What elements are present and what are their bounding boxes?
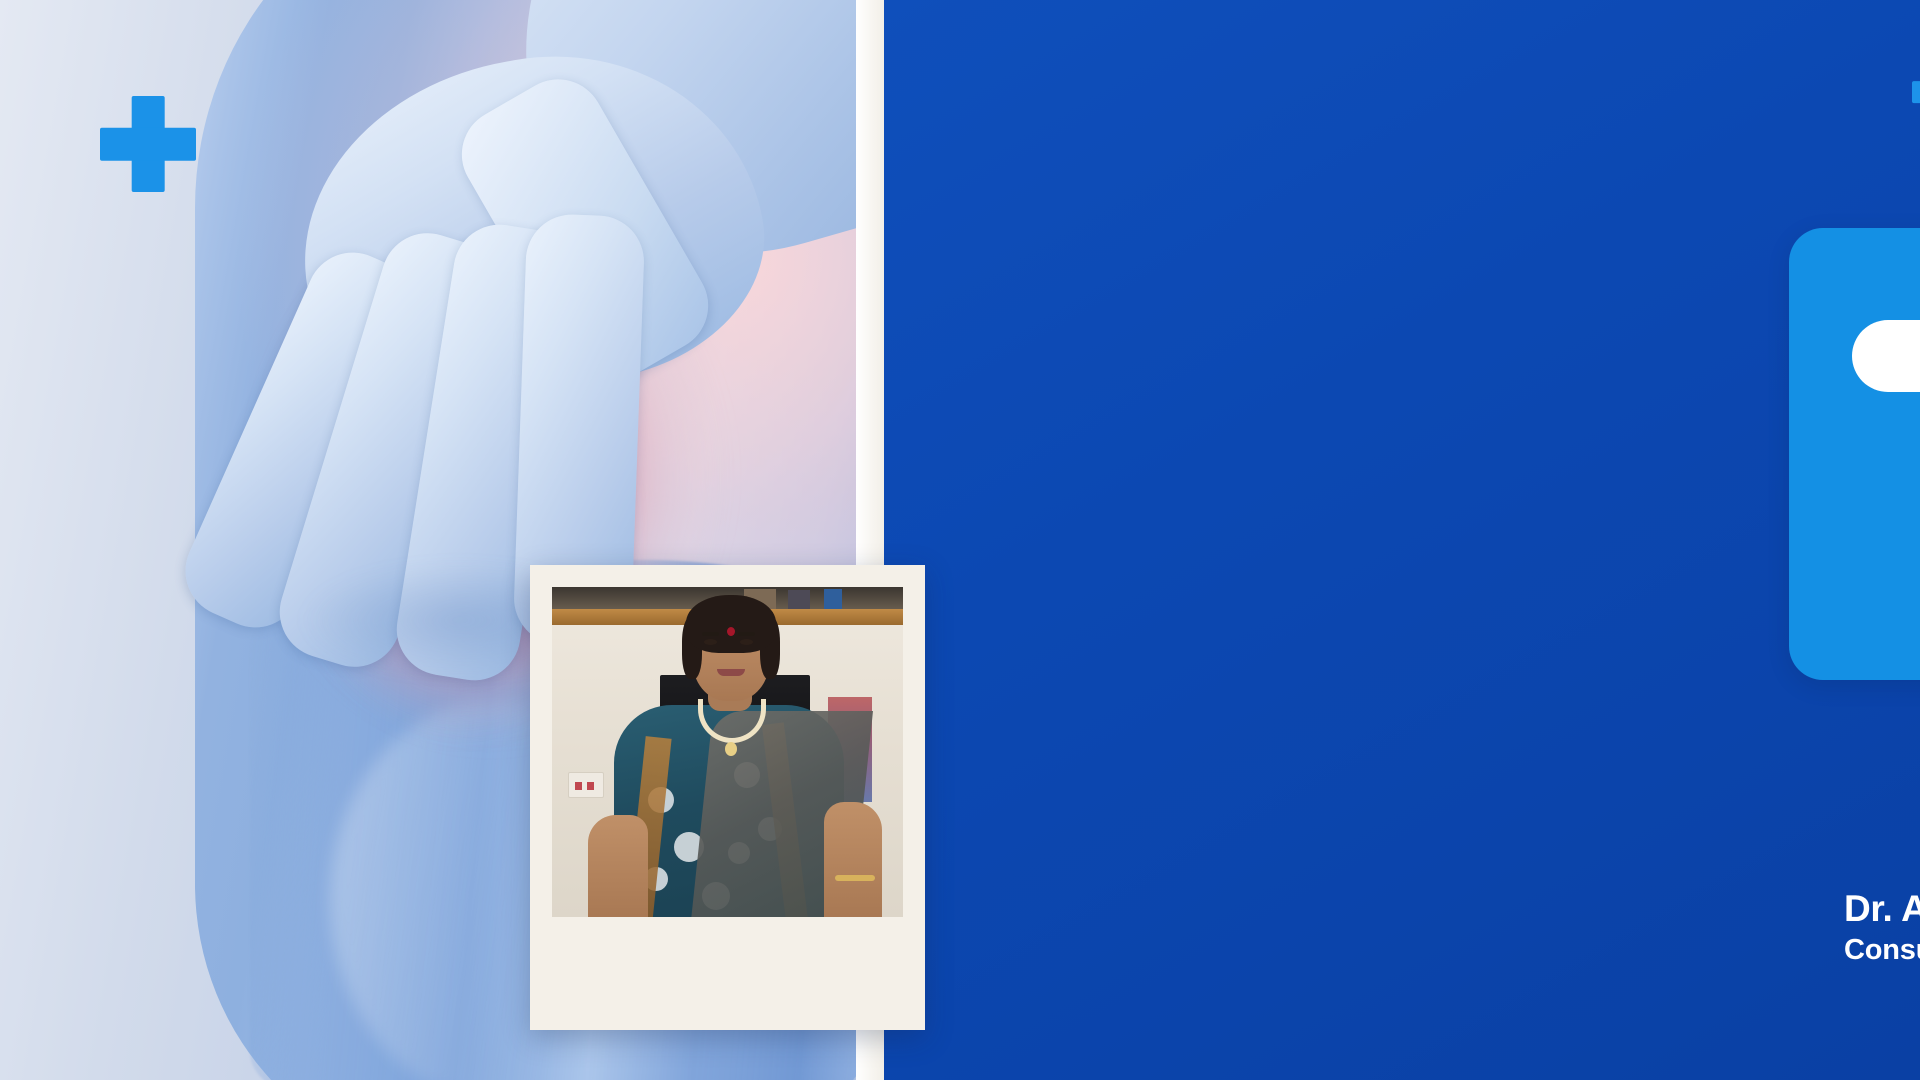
photo-brow-left [702, 632, 719, 636]
photo-arm-left [588, 815, 648, 917]
plus-icon-top-right [1912, 60, 1920, 124]
photo-wall-socket [568, 772, 604, 798]
photo-pendant [725, 742, 737, 756]
headline-highlight: affect [1789, 406, 1920, 478]
headline-line-4: bone health? [1789, 486, 1920, 582]
photo-bindi [727, 627, 735, 636]
photo-shelf-frame-2 [788, 590, 810, 611]
headline-card: How type 1 and type 2 diabetes affect bo… [1789, 228, 1920, 680]
credit-block: Dr. A. Sharda Consultant-Endocrinologist… [1844, 888, 1920, 968]
doctor-role: Consultant-Endocrinologist and Diabetolo… [1844, 933, 1920, 968]
photo-arm-right [824, 802, 882, 917]
content-panel: E TIMES ENTERTAINMENT TIMES LIFESTYLE Ho… [884, 0, 1920, 1080]
headline-pill: type 1 and type 2 diabetes [1852, 320, 1920, 392]
headline-line-1: How [1789, 244, 1920, 307]
photo-bangle [835, 875, 875, 881]
photo-shelf-vase [824, 589, 842, 611]
doctor-name: Dr. A. Sharda [1844, 888, 1920, 929]
poster-canvas: E TIMES ENTERTAINMENT TIMES LIFESTYLE Ho… [0, 0, 1920, 1080]
photo-brow-right [738, 632, 755, 636]
photo-eye-left [704, 639, 717, 645]
photo-mouth [717, 669, 745, 676]
plus-icon-left [100, 96, 196, 192]
doctor-polaroid [530, 565, 925, 1030]
polaroid-caption-area [552, 917, 903, 1007]
photo-hair [686, 595, 776, 653]
photo-eye-right [740, 639, 753, 645]
doctor-photo [552, 587, 903, 917]
